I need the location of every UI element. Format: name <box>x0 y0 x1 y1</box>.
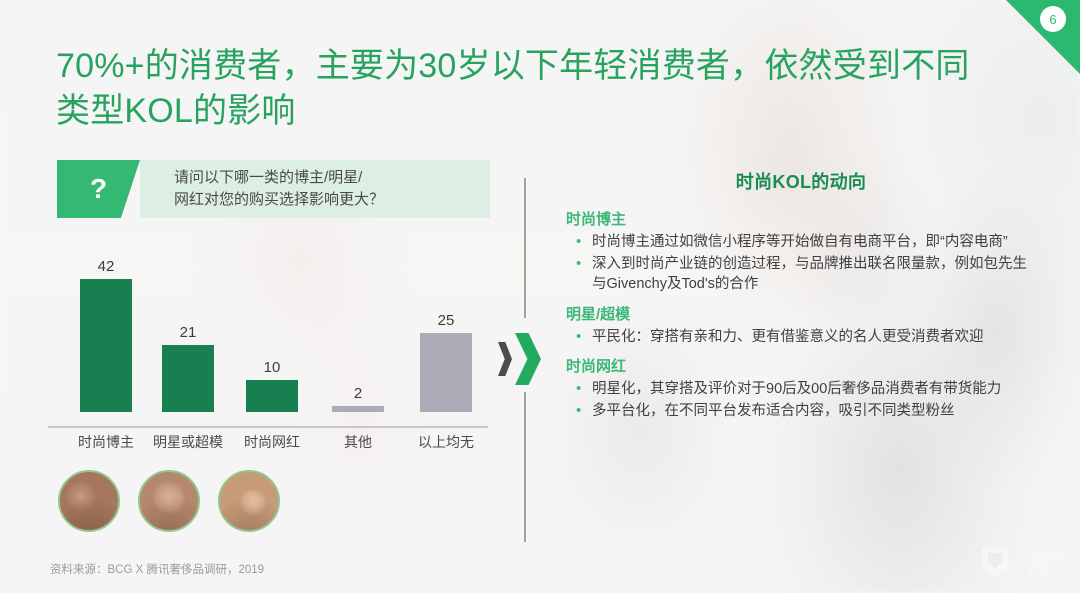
bullet-item: 深入到时尚产业链的创造过程，与品牌推出联名限量款，例如包先生与Givenchy及… <box>566 254 1036 295</box>
bar-value-label: 2 <box>354 385 362 402</box>
bar-chart: 422110225 时尚博主明星或超模时尚网红其他以上均无 <box>48 232 488 440</box>
bar-category-label: 时尚网红 <box>224 432 320 452</box>
bar-rect <box>162 345 214 412</box>
chevron-small-icon <box>498 342 512 376</box>
bar-rect <box>420 333 472 412</box>
bullet-item: 多平台化，在不同平台发布适合内容，吸引不同类型粉丝 <box>566 401 1036 422</box>
panel-sections: 时尚博主时尚博主通过如微信小程序等开始做自有电商平台，即“内容电商”深入到时尚产… <box>566 208 1036 421</box>
kol-avatar-2 <box>138 470 200 532</box>
panel-heading: 时尚KOL的动向 <box>566 168 1036 194</box>
bar-chart-bars: 422110225 <box>48 240 488 426</box>
page-number-badge: 6 <box>1040 6 1066 32</box>
bullet-item: 明星化，其穿搭及评价对于90后及00后奢侈品消费者有带货能力 <box>566 379 1036 400</box>
bullet-item: 时尚博主通过如微信小程序等开始做自有电商平台，即“内容电商” <box>566 232 1036 253</box>
section-bullet-list-1: 时尚博主通过如微信小程序等开始做自有电商平台，即“内容电商”深入到时尚产业链的创… <box>566 232 1036 295</box>
bar-rect <box>246 380 298 412</box>
question-text: 请问以下哪一类的博主/明星/ 网红对您的购买选择影响更大？ <box>140 160 490 218</box>
bar-rect <box>80 279 132 412</box>
question-box: ? 请问以下哪一类的博主/明星/ 网红对您的购买选择影响更大？ <box>57 160 490 218</box>
question-line-2: 网红对您的购买选择影响更大？ <box>174 189 490 211</box>
slide-root: 6 70%+的消费者，主要为30岁以下年轻消费者，依然受到不同类型KOL的影响 … <box>0 0 1080 593</box>
bar-4: 2 <box>332 385 384 412</box>
shield-icon <box>982 548 1008 578</box>
bar-2: 21 <box>162 324 214 412</box>
section-heading-2: 明星/超模 <box>566 303 1036 324</box>
kol-avatar-group <box>58 470 280 532</box>
section-heading-1: 时尚博主 <box>566 208 1036 229</box>
bar-category-label: 以上均无 <box>398 432 494 452</box>
bar-chart-xlabels: 时尚博主明星或超模时尚网红其他以上均无 <box>48 432 488 454</box>
bullet-item: 平民化：穿搭有亲和力、更有借鉴意义的名人更受消费者欢迎 <box>566 327 1036 348</box>
kol-avatar-3 <box>218 470 280 532</box>
bar-value-label: 42 <box>98 258 115 275</box>
bar-rect <box>332 406 384 412</box>
kol-trends-panel: 时尚KOL的动向 时尚博主时尚博主通过如微信小程序等开始做自有电商平台，即“内容… <box>566 168 1036 427</box>
vertical-divider-bottom <box>524 392 526 542</box>
section-heading-3: 时尚网红 <box>566 355 1036 376</box>
chevron-large-icon <box>515 333 541 385</box>
section-bullet-list-2: 平民化：穿搭有亲和力、更有借鉴意义的名人更受消费者欢迎 <box>566 327 1036 348</box>
bar-category-label: 明星或超模 <box>140 432 236 452</box>
double-chevron-arrow-icon <box>498 333 541 385</box>
page-title: 70%+的消费者，主要为30岁以下年轻消费者，依然受到不同类型KOL的影响 <box>56 44 986 134</box>
bar-value-label: 25 <box>438 312 455 329</box>
kol-avatar-1 <box>58 470 120 532</box>
bar-1: 42 <box>80 258 132 412</box>
watermark-sub: 金 蛇 翼 <box>1014 566 1062 574</box>
watermark-text: JinSheYi 金 蛇 翼 <box>1014 552 1062 575</box>
bar-5: 25 <box>420 312 472 412</box>
source-note: 资料来源：BCG X 腾讯奢侈品调研，2019 <box>50 561 264 577</box>
bar-value-label: 10 <box>264 359 281 376</box>
vertical-divider-top <box>524 178 526 318</box>
question-mark-icon: ? <box>57 160 140 218</box>
bar-category-label: 其他 <box>310 432 406 452</box>
question-line-1: 请问以下哪一类的博主/明星/ <box>174 167 490 189</box>
bar-3: 10 <box>246 359 298 412</box>
chart-axis-line <box>48 426 488 428</box>
watermark-logo: JinSheYi 金 蛇 翼 <box>982 548 1062 578</box>
section-bullet-list-3: 明星化，其穿搭及评价对于90后及00后奢侈品消费者有带货能力多平台化，在不同平台… <box>566 379 1036 421</box>
bar-value-label: 21 <box>180 324 197 341</box>
